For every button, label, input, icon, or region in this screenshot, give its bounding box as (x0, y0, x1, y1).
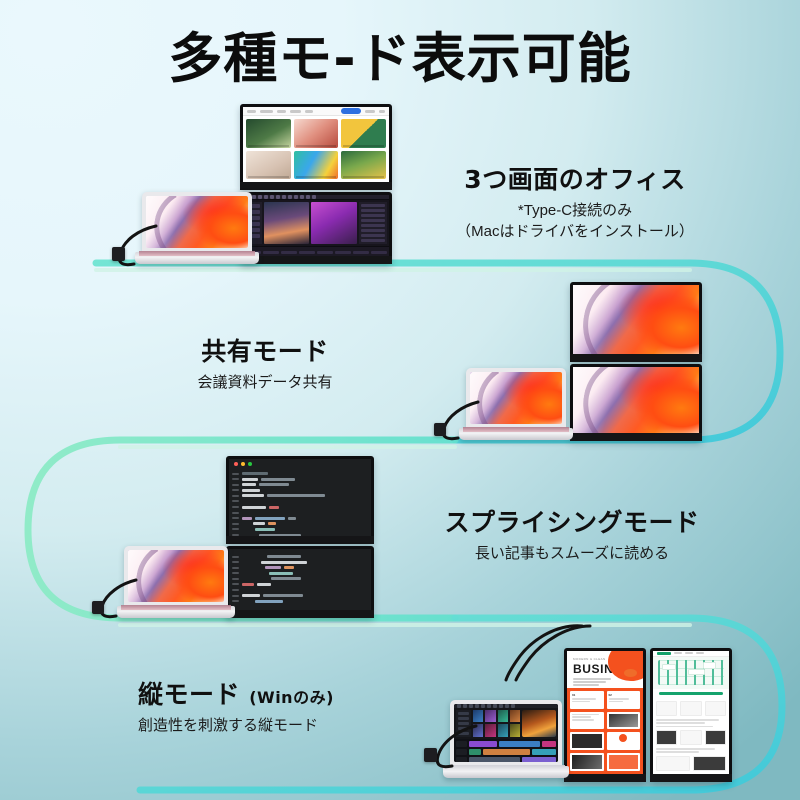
video-thumbs (473, 710, 520, 737)
tile (607, 753, 641, 771)
laptop-lid (450, 700, 562, 766)
monitor-code-bottom (226, 546, 374, 618)
web-cta-bar (659, 692, 723, 696)
tile (607, 732, 641, 750)
caption-splice: スプライシングモード 長い記事もスムーズに読める (432, 503, 712, 563)
laptop-video (450, 700, 562, 778)
vertical-heading-main: 縦モード (138, 680, 240, 709)
code-lines (232, 472, 368, 536)
editor-right-rail (359, 202, 387, 244)
monitor-chin (240, 182, 392, 190)
business-hero: MODERN & CLEAN BUSINESS (567, 651, 643, 688)
editor-body (243, 200, 389, 246)
splice-subtitle: 長い記事もスムーズに読める (432, 542, 712, 563)
laptop-screen (146, 196, 248, 248)
portrait-monitor-web (650, 648, 732, 782)
share-lower-screen (573, 367, 699, 433)
share-upper-screen (573, 285, 699, 354)
vertical-heading: 縦モード (Winのみ) (138, 675, 428, 711)
laptop-base (443, 766, 569, 778)
pinterest-screen (243, 107, 389, 182)
laptop-splice (124, 546, 228, 618)
laptop-screen (128, 550, 224, 602)
web-screen (653, 651, 729, 774)
monitor-chin (570, 433, 702, 441)
tile: 02 (607, 691, 641, 709)
tile (570, 753, 604, 771)
editor-canvas (264, 202, 357, 244)
grid-card (294, 151, 339, 179)
video-timeline (454, 739, 558, 762)
monitor-chin (240, 256, 392, 264)
grid-card (294, 119, 339, 147)
monitor-bottom-editor (240, 192, 392, 264)
office-note-1: *Type-C接続のみ (430, 199, 720, 220)
code-screen-bottom (229, 549, 371, 610)
monitor-share-lower (570, 364, 702, 441)
browser-toolbar (243, 107, 389, 116)
adapter-office (112, 247, 125, 261)
laptop-lid (142, 192, 252, 252)
laptop-base (459, 428, 573, 440)
adapter-share (434, 423, 446, 436)
laptop-base (135, 252, 259, 264)
portrait-monitor-business: MODERN & CLEAN BUSINESS 01 02 (564, 648, 646, 782)
code-screen-top (229, 459, 371, 536)
editor-screen (243, 195, 389, 256)
office-heading: 3つ画面のオフィス (430, 160, 720, 196)
laptop-office (142, 192, 252, 264)
grid-card (246, 119, 291, 147)
toolbar-pill (341, 108, 361, 114)
web-cards (653, 698, 729, 774)
code-lines (232, 555, 368, 603)
caption-office: 3つ画面のオフィス *Type-C接続のみ （Macはドライバをインストール） (430, 160, 720, 241)
share-subtitle: 会議資料データ共有 (140, 371, 390, 392)
laptop-lid (124, 546, 228, 606)
video-preview-area (454, 708, 558, 739)
business-screen: MODERN & CLEAN BUSINESS 01 02 (567, 651, 643, 774)
tile (570, 732, 604, 750)
laptop-screen (470, 372, 562, 424)
tile: 01 (570, 691, 604, 709)
grid-card (341, 151, 386, 179)
vertical-subtitle: 創造性を刺激する縦モード (138, 714, 428, 735)
laptop-base (117, 606, 235, 618)
image-grid (243, 116, 389, 182)
laptop-share (466, 368, 566, 440)
tile (570, 712, 604, 730)
share-heading: 共有モード (140, 332, 390, 368)
adapter-vertical (424, 748, 437, 762)
monitor-chin (564, 774, 646, 782)
monitor-chin (650, 774, 732, 782)
laptop-lid (466, 368, 566, 428)
code-editor (229, 459, 371, 536)
tile (607, 712, 641, 730)
grid-card (246, 151, 291, 179)
editor-timeline (243, 246, 389, 256)
monitor-chin (570, 354, 702, 362)
splice-heading: スプライシングモード (432, 503, 712, 539)
monitor-share-upper (570, 282, 702, 362)
monitor-chin (226, 536, 374, 544)
caption-share: 共有モード 会議資料データ共有 (140, 332, 390, 392)
vertical-heading-suffix: (Winのみ) (249, 688, 334, 707)
grid-card (341, 119, 386, 147)
business-tiles: 01 02 (567, 688, 643, 774)
code-editor-cont (229, 549, 371, 610)
monitor-code-top (226, 456, 374, 544)
web-hero (653, 657, 729, 689)
video-left-rail (456, 710, 471, 737)
monitor-chin (226, 610, 374, 618)
caption-vertical: 縦モード (Winのみ) 創造性を刺激する縦モード (120, 675, 428, 735)
page-title: 多種モ-ド表示可能 (0, 14, 800, 93)
adapter-splice (92, 601, 104, 614)
video-screen (454, 704, 558, 762)
video-preview (522, 710, 556, 737)
monitor-top-pinterest (240, 104, 392, 190)
window-dots (234, 462, 252, 466)
office-note-2: （Macはドライバをインストール） (430, 220, 720, 241)
infographic-page: 多種モ-ド表示可能 (0, 0, 800, 800)
